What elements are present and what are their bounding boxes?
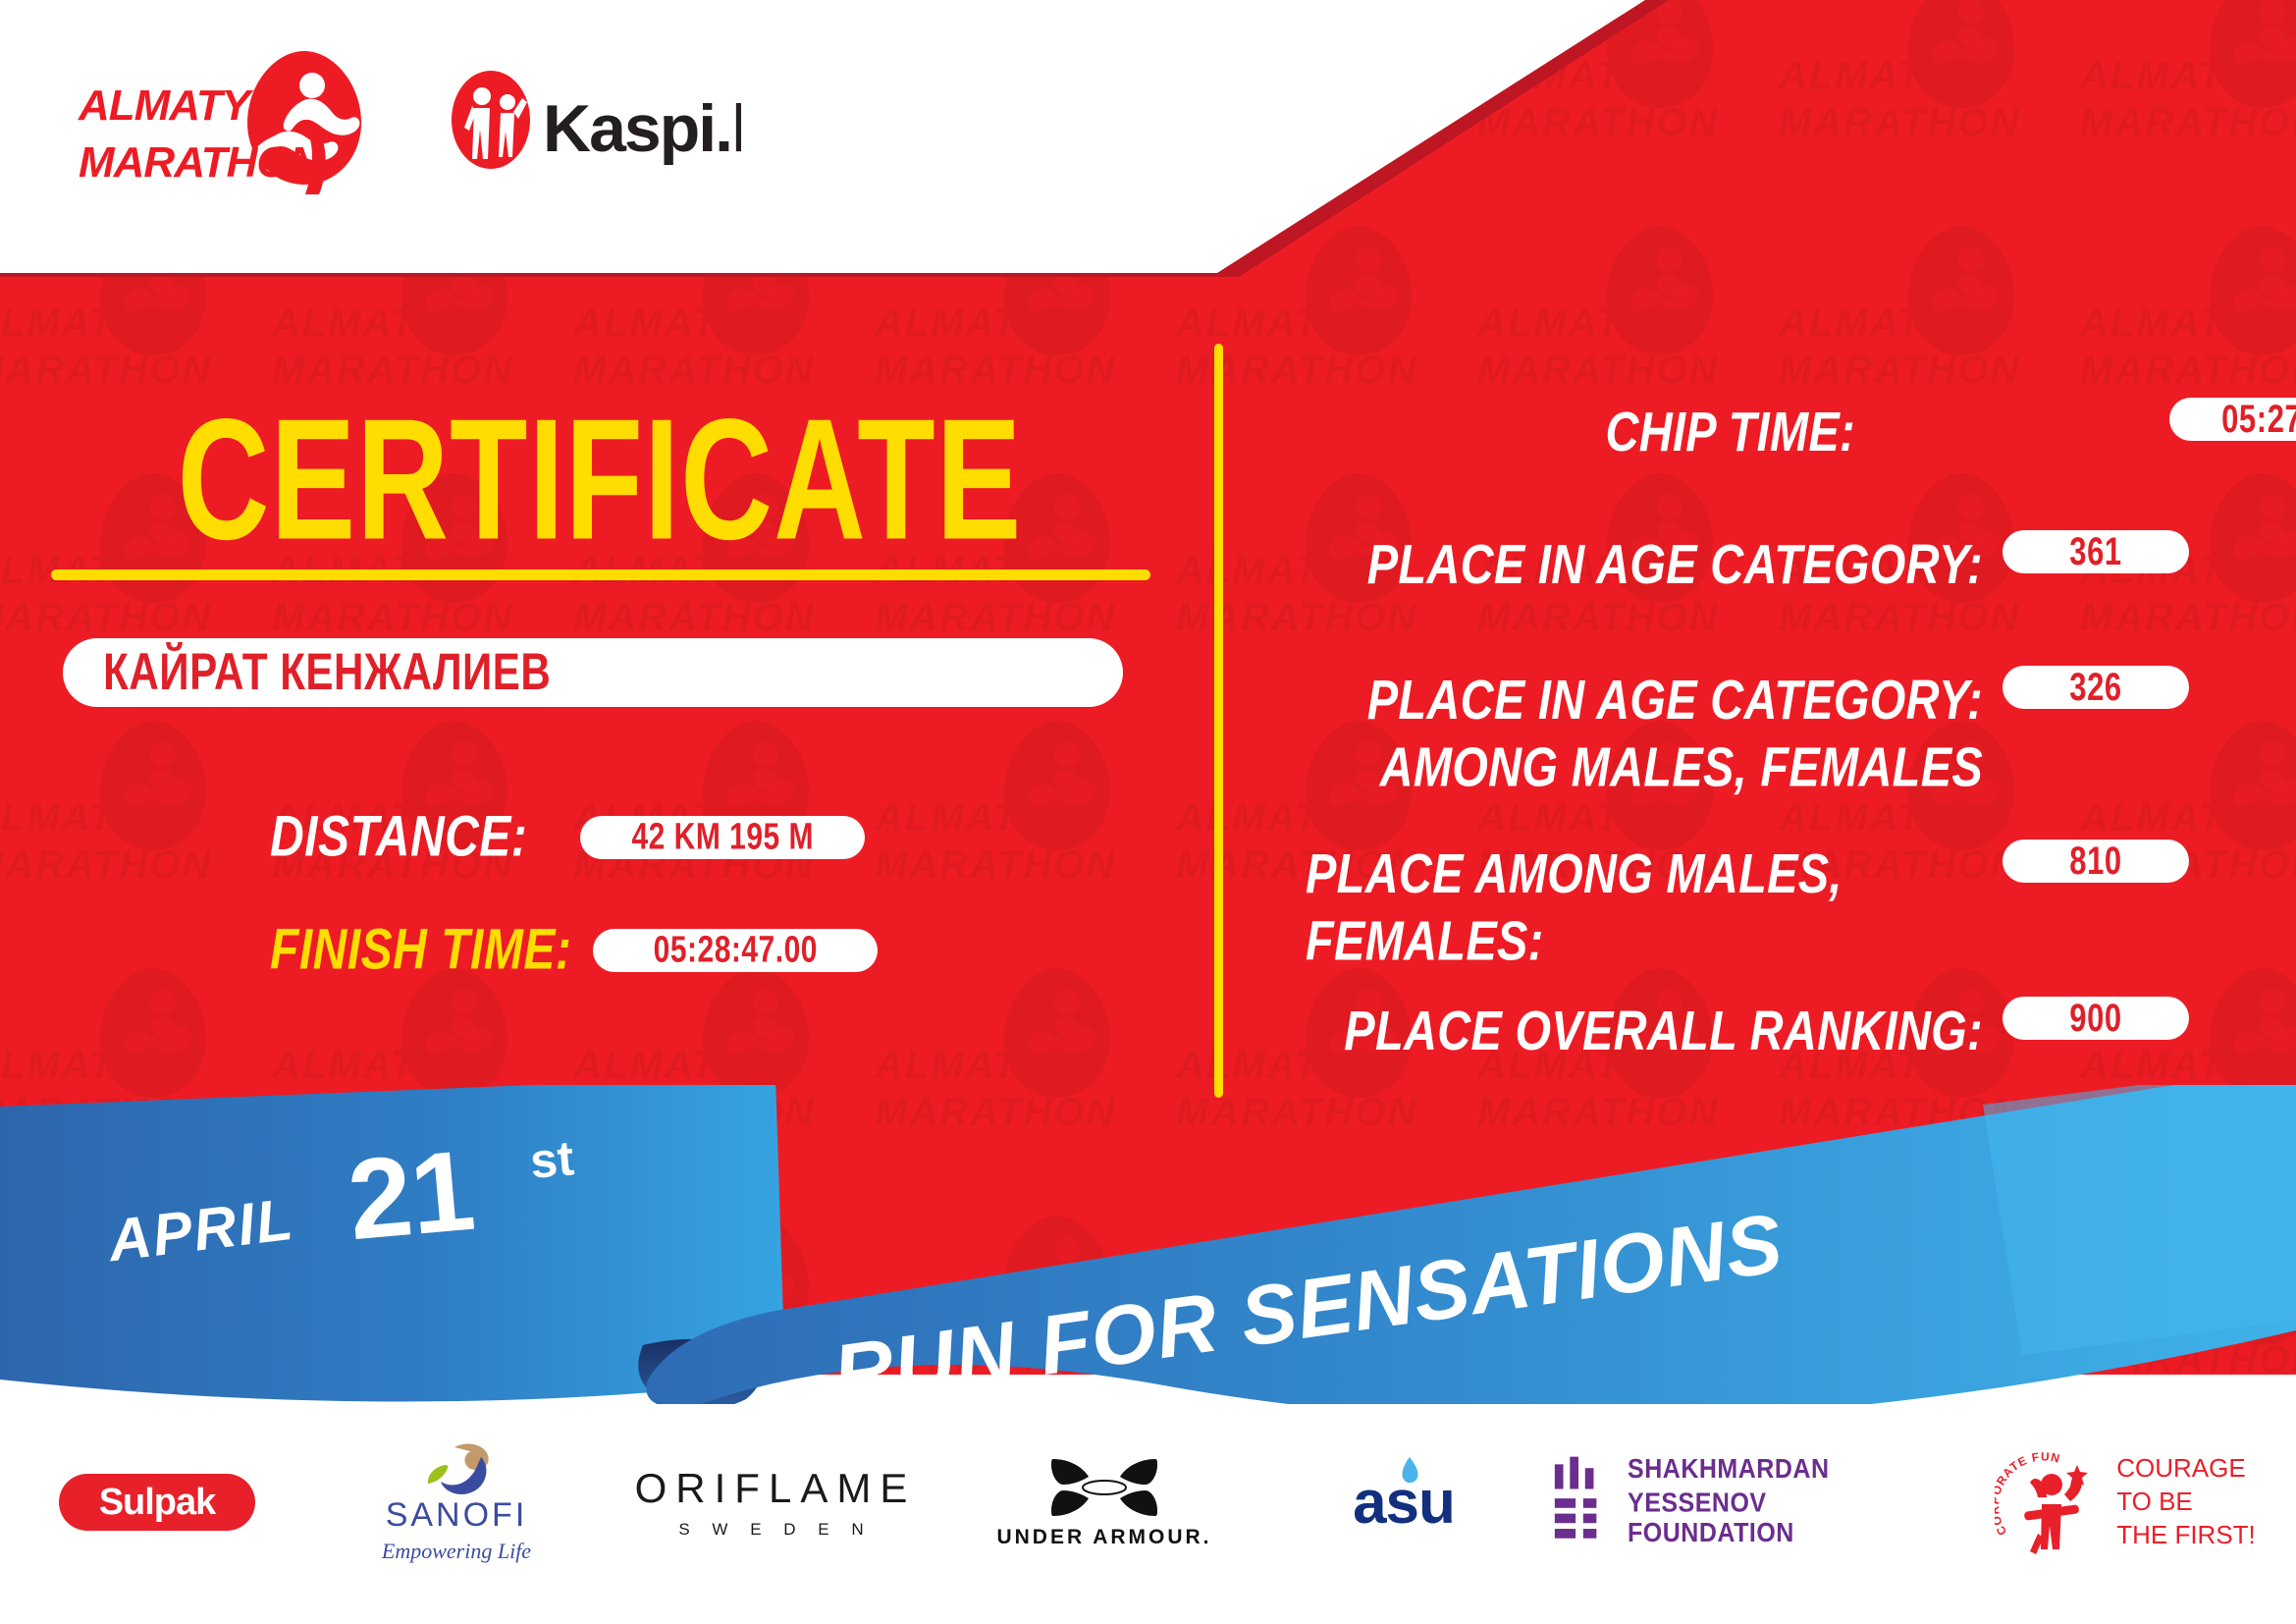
svg-text:Kaspi.kz: Kaspi.kz xyxy=(543,91,741,166)
ribbon-day-label: 21 xyxy=(343,1124,478,1267)
under-armour-logo-text: UNDER ARMOUR. xyxy=(996,1526,1211,1549)
place-overall-ranking-label: PLACE OVERALL RANKING: xyxy=(1306,997,1983,1064)
chip-time-label: CHIP TIME: xyxy=(1306,398,1855,465)
sponsor-courage-to-be-the-first: CORPORATE FUND COURAGE TO BE xyxy=(1963,1449,2287,1555)
certificate-canvas: ALMATY MARATHON ALMATY MARATHON xyxy=(0,0,2296,1624)
oriflame-logo-text: ORIFLAME xyxy=(635,1465,917,1512)
chip-time-value-pill: 05:27:57.00 xyxy=(2169,398,2296,441)
finish-time-row: FINISH TIME: 05:28:47.00 xyxy=(270,923,878,977)
place-in-age-category-label: PLACE IN AGE CATEGORY: xyxy=(1306,530,1983,598)
sulpak-logo: Sulpak xyxy=(59,1474,255,1531)
svg-text:ALMATY: ALMATY xyxy=(78,81,254,130)
under-armour-mark-icon xyxy=(1045,1455,1163,1520)
courage-line3: THE FIRST! xyxy=(2116,1519,2256,1552)
sponsor-asu: asu xyxy=(1256,1468,1551,1538)
athlete-name-value: КАЙРАТ КЕНЖАЛИЕВ xyxy=(63,643,551,702)
sponsor-under-armour: UNDER ARMOUR. xyxy=(952,1455,1256,1549)
chip-time-row: CHIP TIME: 05:27:57.00 xyxy=(1306,398,2296,454)
distance-value-pill: 42 KM 195 M xyxy=(580,816,865,859)
sanofi-mark-icon xyxy=(415,1441,498,1496)
place-in-age-category-row: PLACE IN AGE CATEGORY: 361 xyxy=(1306,530,2189,586)
kaspi-kz-logo: Kaspi.kz xyxy=(447,59,741,187)
sanofi-tagline: Empowering Life xyxy=(382,1539,531,1564)
place-among-males-females-value-pill: 810 xyxy=(2002,839,2189,883)
page-title: CERTIFICATE xyxy=(45,393,1154,566)
sponsor-oriflame: ORIFLAME S W E D E N xyxy=(599,1465,952,1540)
yessenov-foundation-line1: SHAKHMARDAN YESSENOV xyxy=(1628,1452,1963,1521)
place-among-males-females-label: PLACE AMONG MALES, FEMALES: xyxy=(1306,839,1983,975)
place-among-males-females-row: PLACE AMONG MALES, FEMALES: 810 xyxy=(1306,839,2189,952)
finish-time-value-pill: 05:28:47.00 xyxy=(593,929,878,972)
ribbon-day-suffix-label: st xyxy=(528,1129,576,1190)
place-in-age-category-among-value-pill: 326 xyxy=(2002,666,2189,709)
courage-fund-mark-icon: CORPORATE FUND xyxy=(1995,1449,2103,1555)
chip-time-value: 05:27:57.00 xyxy=(2221,397,2296,442)
svg-text:MARATHON: MARATHON xyxy=(79,138,322,187)
courage-text-block: COURAGE TO BE THE FIRST! xyxy=(2116,1452,2256,1551)
place-in-age-category-among-row: PLACE IN AGE CATEGORY: AMONG MALES, FEMA… xyxy=(1306,666,2189,779)
distance-row: DISTANCE: 42 KM 195 M xyxy=(270,810,865,864)
athlete-name-field: КАЙРАТ КЕНЖАЛИЕВ xyxy=(63,638,1123,707)
sponsor-sulpak: Sulpak xyxy=(0,1474,314,1531)
distance-value: 42 KM 195 M xyxy=(631,816,814,859)
place-among-males-females-value: 810 xyxy=(2069,839,2122,884)
place-in-age-category-among-label: PLACE IN AGE CATEGORY: AMONG MALES, FEMA… xyxy=(1306,666,1983,801)
courage-line1: COURAGE xyxy=(2116,1452,2256,1486)
place-in-age-category-value: 361 xyxy=(2069,529,2122,574)
asu-droplet-icon xyxy=(1396,1456,1421,1489)
courage-line2: TO BE xyxy=(2116,1486,2256,1519)
place-in-age-category-among-value: 326 xyxy=(2069,665,2122,710)
yessenov-foundation-mark-icon xyxy=(1551,1455,1606,1549)
place-in-age-category-value-pill: 361 xyxy=(2002,530,2189,573)
sponsor-sanofi: SANOFI Empowering Life xyxy=(314,1441,599,1564)
place-overall-ranking-value: 900 xyxy=(2069,996,2122,1041)
finish-time-value: 05:28:47.00 xyxy=(654,929,818,972)
almaty-marathon-logo: ALMATY MARATHON xyxy=(77,41,391,208)
sanofi-logo-text: SANOFI xyxy=(386,1496,528,1535)
oriflame-tagline: S W E D E N xyxy=(678,1520,872,1540)
column-divider xyxy=(1214,344,1223,1098)
sponsors-footer: Sulpak SANOFI Empowering Life ORIFLAME S… xyxy=(0,1404,2296,1624)
place-overall-ranking-row: PLACE OVERALL RANKING: 900 xyxy=(1306,997,2189,1053)
distance-label: DISTANCE: xyxy=(270,804,527,870)
yessenov-foundation-line2: FOUNDATION xyxy=(1628,1516,1963,1550)
sulpak-logo-text: Sulpak xyxy=(99,1482,216,1524)
sponsor-shakhmardan-yessenov-foundation: SHAKHMARDAN YESSENOV FOUNDATION xyxy=(1551,1455,1963,1549)
title-underline xyxy=(51,569,1150,580)
finish-time-label: FINISH TIME: xyxy=(270,917,571,983)
place-overall-ranking-value-pill: 900 xyxy=(2002,997,2189,1040)
